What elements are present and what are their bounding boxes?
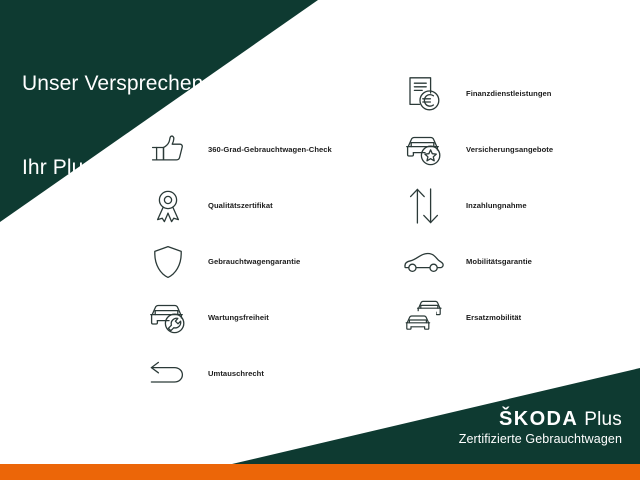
document-euro-icon [396, 68, 452, 120]
skoda-wordmark: ŠKODA [499, 409, 578, 429]
feature-item: Wartungsfreiheit [140, 290, 390, 346]
feature-item: Inzahlungnahme [396, 178, 640, 234]
page-title-line-1: Unser Versprechen. [22, 70, 209, 98]
feature-label: Gebrauchtwagengarantie [208, 258, 300, 266]
feature-item: Mobilitätsgarantie [396, 234, 640, 290]
feature-item: Umtauschrecht [140, 346, 390, 402]
feature-label: Versicherungsangebote [466, 146, 553, 154]
u-turn-arrow-icon [140, 348, 196, 400]
feature-label: Wartungsfreiheit [208, 314, 269, 322]
feature-item: Versicherungsangebote [396, 122, 640, 178]
brand-primary-row: ŠKODA Plus [459, 409, 622, 429]
promo-slide: Unser Versprechen. Ihr Plus. 360-Grad-Ge… [0, 0, 640, 480]
page-title: Unser Versprechen. Ihr Plus. [22, 14, 209, 237]
brand-plus-word: Plus [584, 410, 622, 429]
orange-footer-bar [0, 464, 640, 480]
two-cars-icon [396, 292, 452, 344]
page-title-line-2: Ihr Plus. [22, 154, 209, 182]
arrows-up-down-icon [396, 180, 452, 232]
feature-label: Umtauschrecht [208, 370, 264, 378]
shield-icon [140, 236, 196, 288]
feature-label: Ersatzmobilität [466, 314, 521, 322]
brand-lockup: ŠKODA Plus Zertifizierte Gebrauchtwagen [459, 409, 622, 447]
feature-label: Finanzdienstleistungen [466, 90, 551, 98]
feature-label: Inzahlungnahme [466, 202, 527, 210]
brand-tagline: Zertifizierte Gebrauchtwagen [459, 433, 622, 447]
car-wrench-icon [140, 292, 196, 344]
feature-list-right: Finanzdienstleistungen Versicherungsange… [396, 66, 640, 346]
feature-label: Qualitätszertifikat [208, 202, 273, 210]
feature-item: Ersatzmobilität [396, 290, 640, 346]
feature-label: Mobilitätsgarantie [466, 258, 532, 266]
feature-item: Finanzdienstleistungen [396, 66, 640, 122]
car-side-icon [396, 236, 452, 288]
feature-item: Gebrauchtwagengarantie [140, 234, 390, 290]
feature-label: 360-Grad-Gebrauchtwagen-Check [208, 146, 332, 154]
car-star-icon [396, 124, 452, 176]
